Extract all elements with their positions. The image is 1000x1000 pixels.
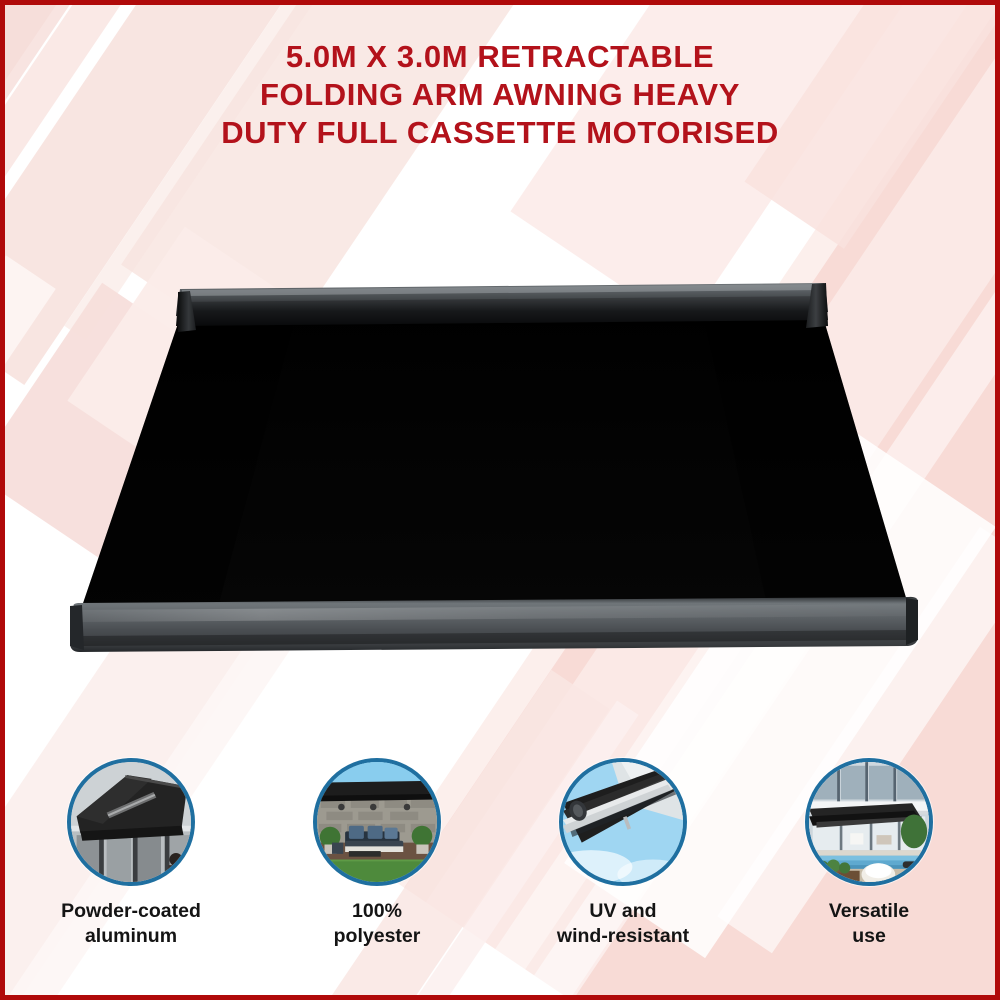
feature-item-versatile-use: Versatile use	[746, 758, 992, 978]
product-banner: 5.0M X 3.0M RETRACTABLE FOLDING ARM AWNI…	[0, 0, 1000, 1000]
title-line-3: DUTY FULL CASSETTE MOTORISED	[0, 114, 1000, 152]
title-line-2: FOLDING ARM AWNING HEAVY	[0, 76, 1000, 114]
feature-item-100-polyester: 100% polyester	[254, 758, 500, 978]
feature-item-powder-coated-aluminum: Powder-coated aluminum	[8, 758, 254, 978]
patio-lounge-icon	[313, 758, 441, 886]
feature-label: Versatile use	[829, 899, 909, 949]
feature-label: 100% polyester	[334, 899, 421, 949]
feature-item-uv-and-wind-resistant: UV and wind-resistant	[500, 758, 746, 978]
feature-list: Powder-coated aluminum	[8, 758, 992, 978]
title-line-1: 5.0M X 3.0M RETRACTABLE	[0, 38, 1000, 76]
feature-label: UV and wind-resistant	[557, 899, 689, 949]
awning-sky-icon	[559, 758, 687, 886]
awning-underside-icon	[67, 758, 195, 886]
page-title: 5.0M X 3.0M RETRACTABLE FOLDING ARM AWNI…	[0, 38, 1000, 152]
modern-house-pool-icon	[805, 758, 933, 886]
feature-label: Powder-coated aluminum	[61, 899, 201, 949]
